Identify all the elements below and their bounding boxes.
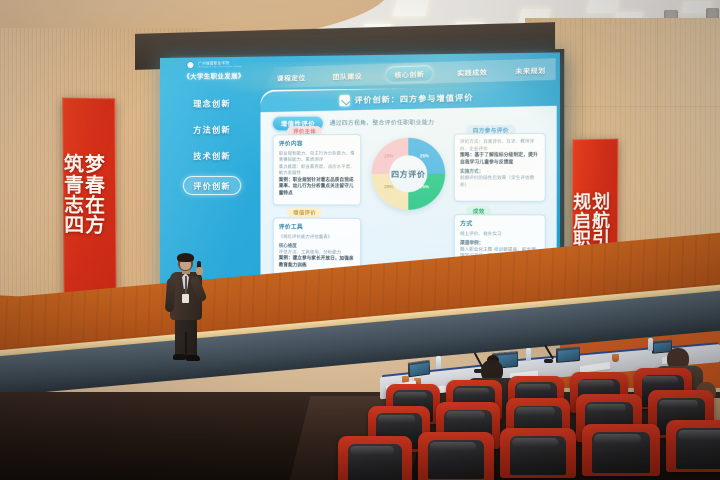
donut-pct-cream: 25%: [384, 184, 393, 189]
nav-item-team-building[interactable]: 团队建设: [330, 68, 366, 83]
panel-line: 职业规划能力、自主行为分析能力、情景模拟能力、素质测评: [279, 150, 355, 163]
sidebar-item-concept-innovation[interactable]: 理念创新: [193, 97, 231, 109]
university-name-en: Guangzhou City Construction College: [198, 66, 242, 69]
banner-left: 筑梦青春志在四方: [62, 98, 116, 295]
water-bottle: [648, 338, 653, 351]
sidebar-item-method-innovation[interactable]: 方法创新: [193, 124, 231, 136]
panel-tag-value-added: 增值评价: [287, 207, 322, 217]
nav-item-core-innovation[interactable]: 核心创新: [386, 65, 433, 82]
panel-emphasis: 策略：基于了解指标分级制定，提升自我学习儿童参与反馈度: [460, 152, 539, 166]
panel-emphasis: 案例：职业规划针对意志品质自我成果率、幼儿行为分析重点关注留守儿童特点: [279, 176, 355, 197]
panel-line: 重点维度：职业素养度、适应水平度、能力发展性: [279, 163, 355, 176]
banner-left-text: 筑梦青春志在四方: [64, 155, 116, 237]
slide-nav: 课程定位 团队建设 核心创新 实践成效 未来规划: [264, 58, 556, 89]
name-badge: [182, 294, 189, 303]
sidebar-item-evaluation-innovation[interactable]: 评价创新: [183, 176, 241, 195]
panel-line: 评价方式：自我评价、互评、教师评价、企业评价: [460, 138, 539, 152]
panel-heading: 评价工具: [279, 223, 355, 232]
paper-cup: [612, 354, 619, 362]
donut-pct-blue: 25%: [420, 153, 429, 158]
card-description: 通过四方视角，整合评价任职职业能力: [330, 118, 435, 127]
panel-evaluation-content: 评价内容 职业规划能力、自主行为分析能力、情景模拟能力、素质测评 重点维度：职业…: [273, 134, 362, 206]
card-title-bar: 评价创新：四方参与增值评价: [260, 85, 556, 112]
laptop: [556, 346, 580, 363]
donut-pct-pink: 25%: [384, 153, 393, 158]
nav-item-course-position[interactable]: 课程定位: [274, 69, 309, 84]
nav-item-practice-results[interactable]: 实践成效: [454, 64, 491, 80]
presenter: [166, 254, 208, 360]
panel-line: 《岗位评价能力评估量表》: [279, 233, 355, 240]
sidebar-item-technology-innovation[interactable]: 技术创新: [193, 150, 231, 162]
four-party-donut-chart: 四方评价 25% 25% 25% 25%: [372, 138, 446, 210]
panel-heading: 方式: [460, 219, 539, 228]
slide-logo: 广州城建职业学院 Guangzhou City Construction Col…: [166, 60, 263, 91]
check-document-icon: [340, 94, 350, 105]
course-title: 《大学生职业发展》: [183, 71, 244, 81]
nav-item-future-plan[interactable]: 未来规划: [512, 62, 549, 78]
donut-center-label: 四方评价: [372, 138, 446, 210]
lecture-hall-scene: 广州城建职业学院 Guangzhou City Construction Col…: [0, 0, 720, 480]
slide-sidebar: 理念创新 方法创新 技术创新 评价创新: [164, 97, 261, 195]
panel-line: 前期评价阶段性后效果（学生评估教师）: [460, 175, 539, 189]
card-title: 评价创新：四方参与增值评价: [354, 92, 473, 106]
panel-evaluation-method: 评价方式：自我评价、互评、教师评价、企业评价 策略：基于了解指标分级制定，提升自…: [454, 133, 546, 202]
donut-pct-green: 25%: [420, 184, 429, 189]
water-bottle: [436, 356, 441, 369]
laptop: [408, 359, 431, 377]
panel-line: 线上评价、校外实习: [460, 230, 539, 237]
panel-heading: 评价内容: [279, 139, 355, 147]
water-bottle: [526, 348, 531, 361]
university-crest-icon: [186, 61, 195, 70]
